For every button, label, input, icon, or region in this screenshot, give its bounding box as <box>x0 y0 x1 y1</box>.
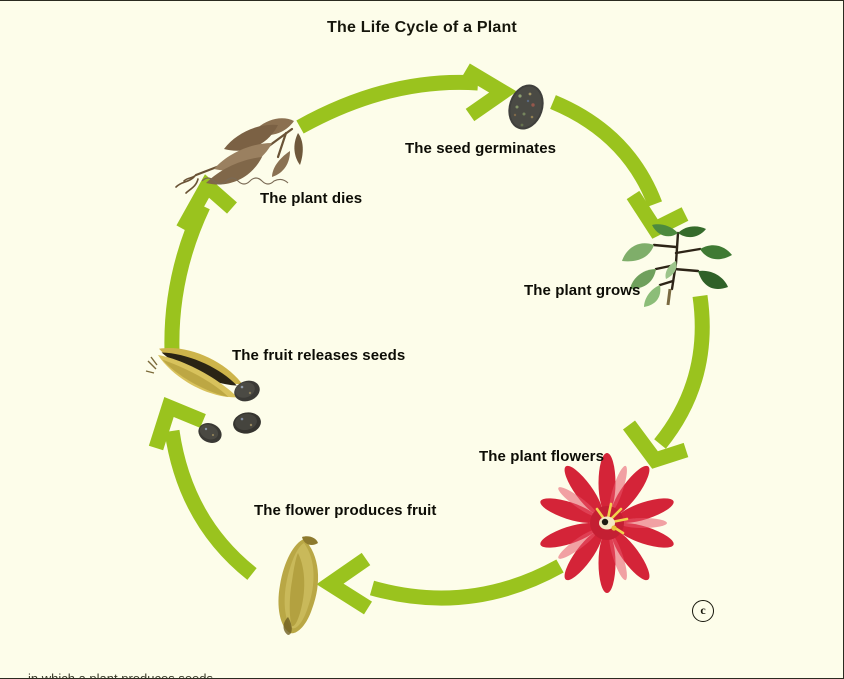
arrow-dies-to-germinates <box>300 82 478 127</box>
arrow-grows-to-flowers <box>660 296 702 444</box>
arrowhead-to-germinates <box>466 70 503 115</box>
cycle-arrows <box>0 1 844 679</box>
arrow-flowers-to-fruit <box>372 566 560 598</box>
arrow-fruit-to-releases <box>172 431 252 574</box>
stage-label-fruit-releases-seeds: The fruit releases seeds <box>232 347 405 364</box>
copyright-icon: c <box>692 600 714 622</box>
arrow-germinates-to-grows <box>553 102 655 204</box>
fruit-icon <box>266 535 338 640</box>
footer-clipped-text: in which a plant produces seeds <box>28 671 213 679</box>
stage-label-seed-germinates: The seed germinates <box>405 140 556 157</box>
stage-label-plant-flowers: The plant flowers <box>479 448 604 465</box>
flower-icon <box>548 467 666 577</box>
dead-plant-icon <box>166 103 306 203</box>
life-cycle-diagram: The Life Cycle of a Plant <box>0 0 844 679</box>
stage-label-plant-dies: The plant dies <box>260 190 362 207</box>
stage-label-plant-grows: The plant grows <box>524 282 641 299</box>
seed-icon <box>502 81 550 133</box>
stage-label-flower-produces-fruit: The flower produces fruit <box>254 502 437 519</box>
